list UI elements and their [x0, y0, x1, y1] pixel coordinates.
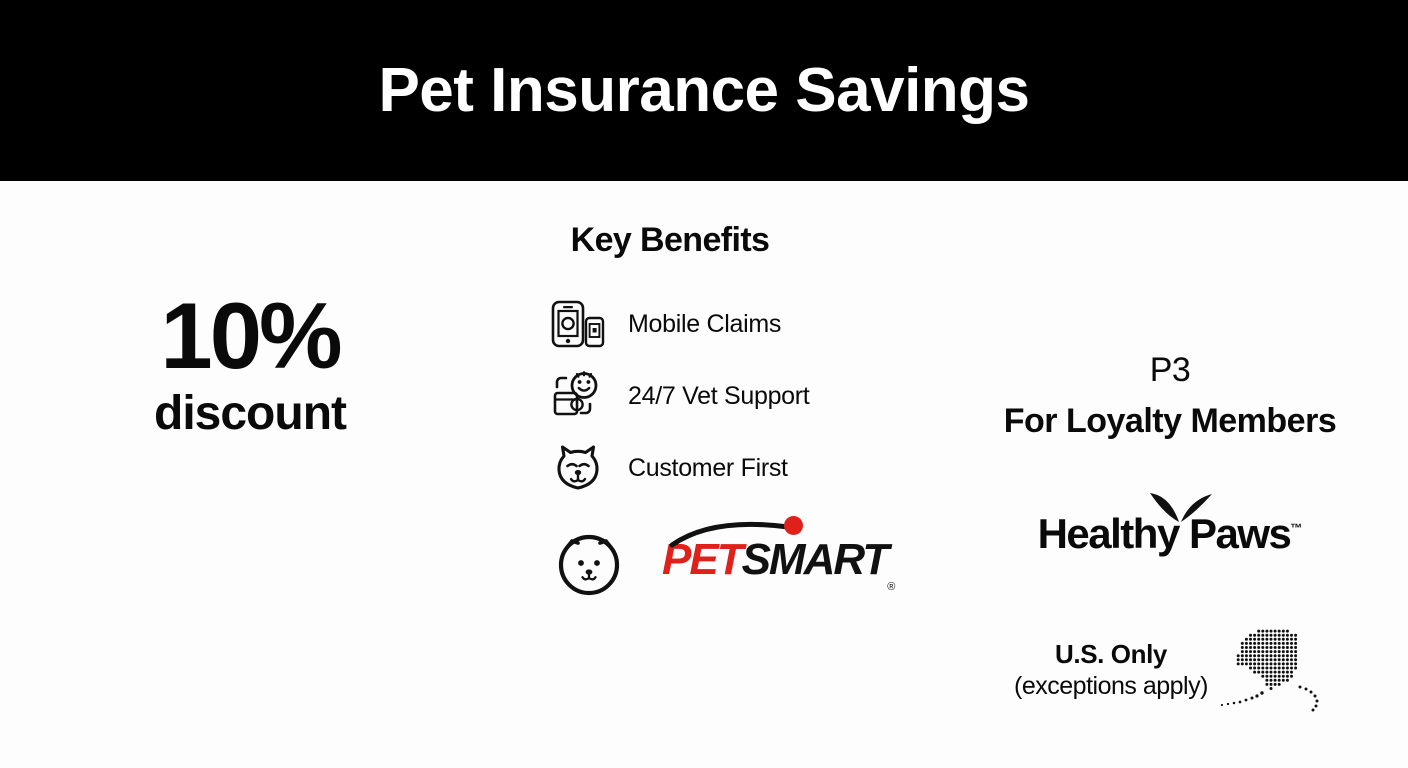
coverage-block: U.S. Only (exceptions apply) — [960, 631, 1380, 720]
plan-code: P3 — [960, 351, 1380, 390]
page-title: Pet Insurance Savings — [378, 60, 1029, 122]
discount-block: 10% discount — [80, 291, 420, 441]
plan-details-block: P3 For Loyalty Members Healthy Paws™ U.S… — [960, 181, 1380, 555]
discount-label: discount — [80, 386, 420, 441]
petsmart-swoosh-icon — [670, 521, 795, 547]
benefit-item-customer-first: Customer First — [500, 432, 920, 504]
benefit-label: Mobile Claims — [628, 310, 781, 339]
benefit-item-vet-support: 24/7 Vet Support — [500, 360, 920, 432]
plan-audience: For Loyalty Members — [960, 402, 1380, 441]
insurer-logo: Healthy Paws™ — [1038, 513, 1303, 555]
chat-smiley-support-icon — [550, 370, 606, 422]
benefit-label: 24/7 Vet Support — [628, 382, 809, 411]
petsmart-red-dot-icon — [784, 516, 803, 535]
registered-trademark: ® — [887, 581, 895, 593]
cat-face-icon — [550, 442, 606, 494]
trademark-symbol: ™ — [1290, 521, 1302, 535]
content-stage: 10% discount Key Benefits Mobile Claims — [0, 181, 1408, 768]
coverage-note: (exceptions apply) — [1014, 672, 1208, 701]
partner-retailer-logo: PETSMART® — [500, 532, 920, 598]
benefit-label: Customer First — [628, 454, 788, 483]
benefit-item-mobile-claims: Mobile Claims — [500, 288, 920, 360]
key-benefits-block: Key Benefits Mobile Claims — [500, 221, 920, 598]
key-benefits-title: Key Benefits — [500, 221, 920, 260]
pet-face-circle-icon — [556, 532, 622, 598]
mobile-phones-icon — [550, 298, 606, 350]
leaf-flourish-icon — [1146, 490, 1216, 524]
alaska-dotted-map-icon — [1216, 625, 1326, 720]
discount-value: 10% — [80, 291, 420, 380]
header-banner: Pet Insurance Savings — [0, 0, 1408, 181]
coverage-title: U.S. Only — [1014, 639, 1208, 670]
petsmart-wordmark: PETSMART® — [662, 538, 895, 593]
